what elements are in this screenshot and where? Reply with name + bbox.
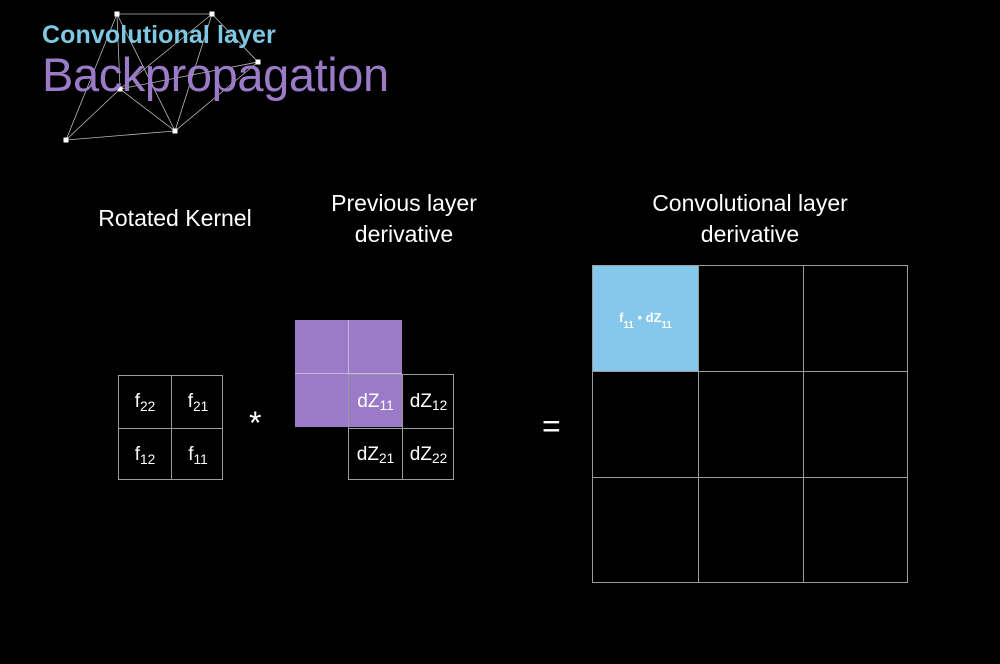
output-vertical-divider-1 (698, 266, 699, 582)
kernel-cell-r2c2: f11 (172, 429, 224, 481)
kernel-cell-r2c1: f12 (119, 429, 171, 481)
output-cell-r2c1 (593, 372, 698, 478)
kernel-cell-r1c1: f22 (119, 376, 171, 428)
output-vertical-divider-2 (803, 266, 804, 582)
output-horizontal-divider-2 (593, 477, 907, 478)
label-rotated-kernel: Rotated Kernel (75, 203, 275, 234)
convolutional-layer-derivative-matrix: f11 • dZ11 (592, 265, 908, 583)
kernel-cell-r1c2: f21 (172, 376, 224, 428)
output-cell-r2c2 (699, 372, 804, 478)
label-previous-layer-derivative: Previous layer derivative (304, 188, 504, 250)
output-cell-r1c2 (699, 266, 804, 372)
dz-cell-r2c2: dZ22 (402, 428, 455, 481)
output-cell-r2c3 (804, 372, 909, 478)
output-cell-r1c3 (804, 266, 909, 372)
output-cell-r3c2 (699, 478, 804, 584)
convolution-operator: * (249, 405, 261, 442)
output-cell-r1c1: f11 • dZ11 (593, 266, 698, 372)
slide-subtitle: Convolutional layer (42, 22, 389, 48)
output-cell-r3c1 (593, 478, 698, 584)
rotated-kernel-matrix: f22 f21 f12 f11 (118, 375, 223, 480)
dz-cell-r1c1: dZ11 (349, 375, 402, 428)
output-cell-r1c1-label: f11 • dZ11 (619, 310, 672, 329)
title-block: Convolutional layer Backpropagation (42, 22, 389, 102)
dz-cell-r1c2: dZ12 (402, 375, 455, 428)
slide-canvas: Convolutional layer Backpropagation Rota… (0, 0, 1000, 664)
label-convolutional-layer-derivative: Convolutional layer derivative (649, 188, 851, 250)
page-title: Backpropagation (42, 49, 389, 102)
output-cell-r3c3 (804, 478, 909, 584)
output-horizontal-divider-1 (593, 371, 907, 372)
equals-operator: = (542, 408, 561, 445)
previous-layer-derivative-matrix: dZ11 dZ12 dZ21 dZ22 (348, 374, 454, 480)
dz-cell-r2c1: dZ21 (349, 428, 402, 481)
